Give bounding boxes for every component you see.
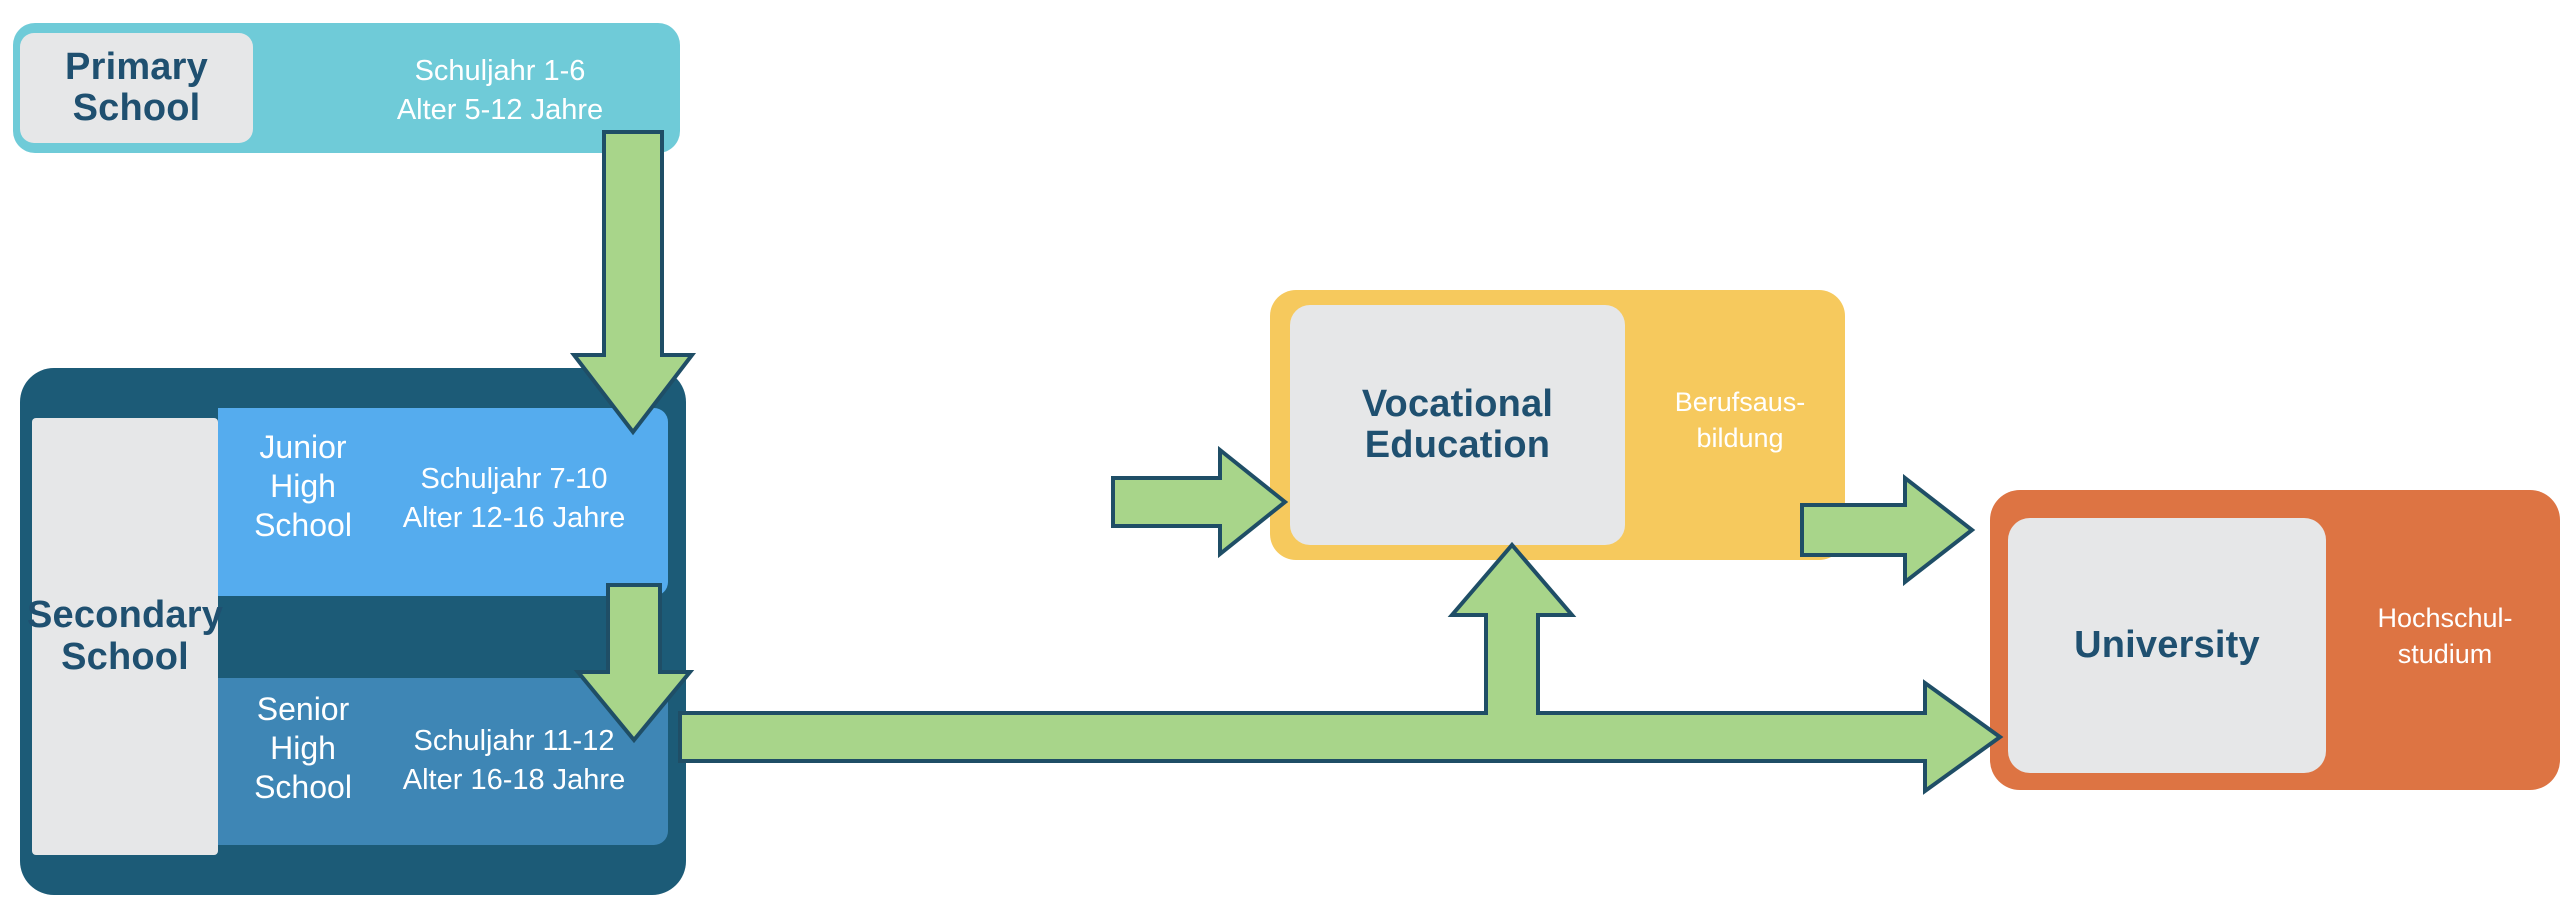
diagram-canvas: Primary School Schuljahr 1-6 Alter 5-12 … — [0, 0, 2560, 916]
junior-high-school-detail-line2: Alter 12-16 Jahre — [364, 499, 664, 538]
vocational-education-title: Vocational Education — [1362, 384, 1553, 466]
primary-school-detail: Schuljahr 1-6 Alter 5-12 Jahre — [330, 52, 670, 130]
primary-school-title-line1: Primary — [65, 47, 208, 88]
arrow-senior-high-to-university-icon — [680, 545, 2000, 791]
senior-high-school-detail: Schuljahr 11-12 Alter 16-18 Jahre — [364, 722, 664, 800]
senior-high-school-name-line1: Senior — [228, 690, 378, 729]
senior-high-school-name-line2: High — [228, 729, 378, 768]
senior-high-school-detail-line2: Alter 16-18 Jahre — [364, 761, 664, 800]
senior-high-school-name: Senior High School — [228, 690, 378, 807]
university-detail: Hochschul- studium — [2340, 600, 2550, 673]
junior-high-school-name-line1: Junior — [228, 428, 378, 467]
junior-high-school-detail-line1: Schuljahr 7-10 — [364, 460, 664, 499]
secondary-school-title: Secondary School — [27, 595, 223, 677]
university-title: University — [2074, 625, 2260, 666]
secondary-school-title-line2: School — [27, 637, 223, 678]
junior-high-school-name: Junior High School — [228, 428, 378, 545]
university-card[interactable]: University — [2008, 518, 2326, 773]
university-detail-line1: Hochschul- — [2340, 600, 2550, 636]
vocational-education-detail-line1: Berufsaus- — [1640, 384, 1840, 420]
vocational-education-title-line2: Education — [1362, 425, 1553, 466]
secondary-school-title-line1: Secondary — [27, 595, 223, 636]
junior-high-school-detail: Schuljahr 7-10 Alter 12-16 Jahre — [364, 460, 664, 538]
primary-school-card[interactable]: Primary School — [20, 33, 253, 143]
primary-school-title: Primary School — [65, 47, 208, 129]
university-detail-line2: studium — [2340, 636, 2550, 672]
vocational-education-title-line1: Vocational — [1362, 384, 1553, 425]
primary-school-detail-line1: Schuljahr 1-6 — [330, 52, 670, 91]
primary-school-title-line2: School — [65, 88, 208, 129]
primary-school-detail-line2: Alter 5-12 Jahre — [330, 91, 670, 130]
secondary-school-card[interactable]: Secondary School — [32, 418, 218, 855]
junior-high-school-name-line2: High — [228, 467, 378, 506]
arrow-junior-high-to-vocational-icon — [1113, 450, 1285, 554]
vocational-education-detail: Berufsaus- bildung — [1640, 384, 1840, 457]
senior-high-school-detail-line1: Schuljahr 11-12 — [364, 722, 664, 761]
vocational-education-card[interactable]: Vocational Education — [1290, 305, 1625, 545]
vocational-education-detail-line2: bildung — [1640, 420, 1840, 456]
junior-high-school-name-line3: School — [228, 506, 378, 545]
senior-high-school-name-line3: School — [228, 768, 378, 807]
